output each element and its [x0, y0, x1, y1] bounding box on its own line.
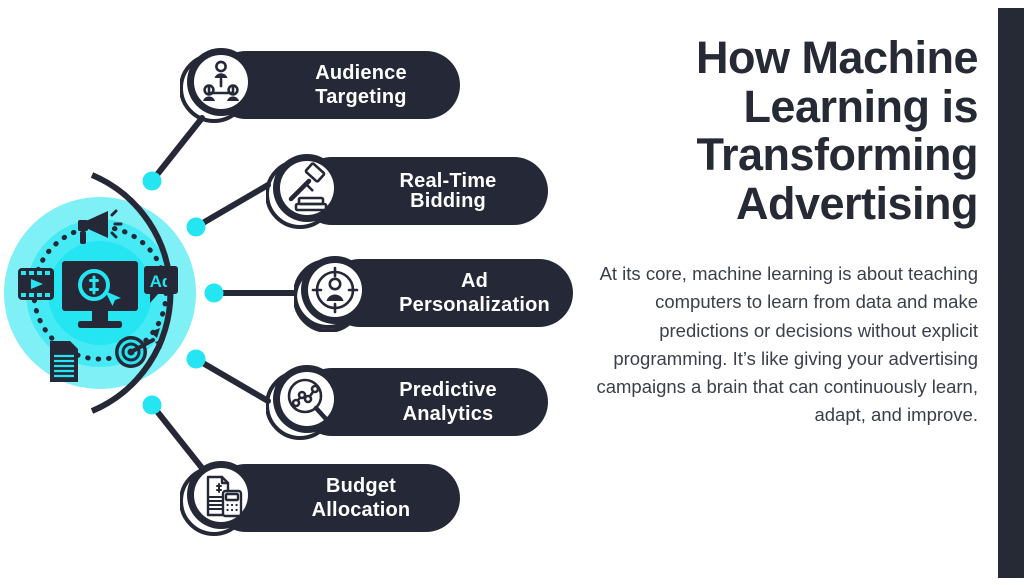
- medallion-ad-personalization[interactable]: [294, 254, 372, 332]
- medallion-real-time-bidding[interactable]: [266, 152, 344, 230]
- medallion-predictive-analytics[interactable]: [266, 363, 344, 441]
- junction-dot-4: [187, 350, 206, 369]
- connector-line-1: [152, 118, 202, 181]
- document-icon: [50, 341, 78, 382]
- body-paragraph: At its core, machine learning is about t…: [588, 260, 978, 429]
- right-edge-accent-bar: [998, 8, 1024, 578]
- medallion-audience-targeting[interactable]: [180, 46, 258, 124]
- medallion-budget-allocation[interactable]: [180, 459, 258, 537]
- junction-dot-2: [187, 218, 206, 237]
- connector-line-2: [196, 185, 268, 227]
- video-clip-icon: [18, 268, 54, 300]
- junction-dot-1: [143, 172, 162, 191]
- infographic-canvas: Ad Audience Ta: [0, 0, 1024, 585]
- page-title: How Machine Learning is Transforming Adv…: [588, 34, 978, 228]
- connector-line-4: [196, 359, 268, 401]
- junction-dot-5: [143, 396, 162, 415]
- junction-dot-3: [205, 284, 224, 303]
- text-column: How Machine Learning is Transforming Adv…: [588, 34, 978, 429]
